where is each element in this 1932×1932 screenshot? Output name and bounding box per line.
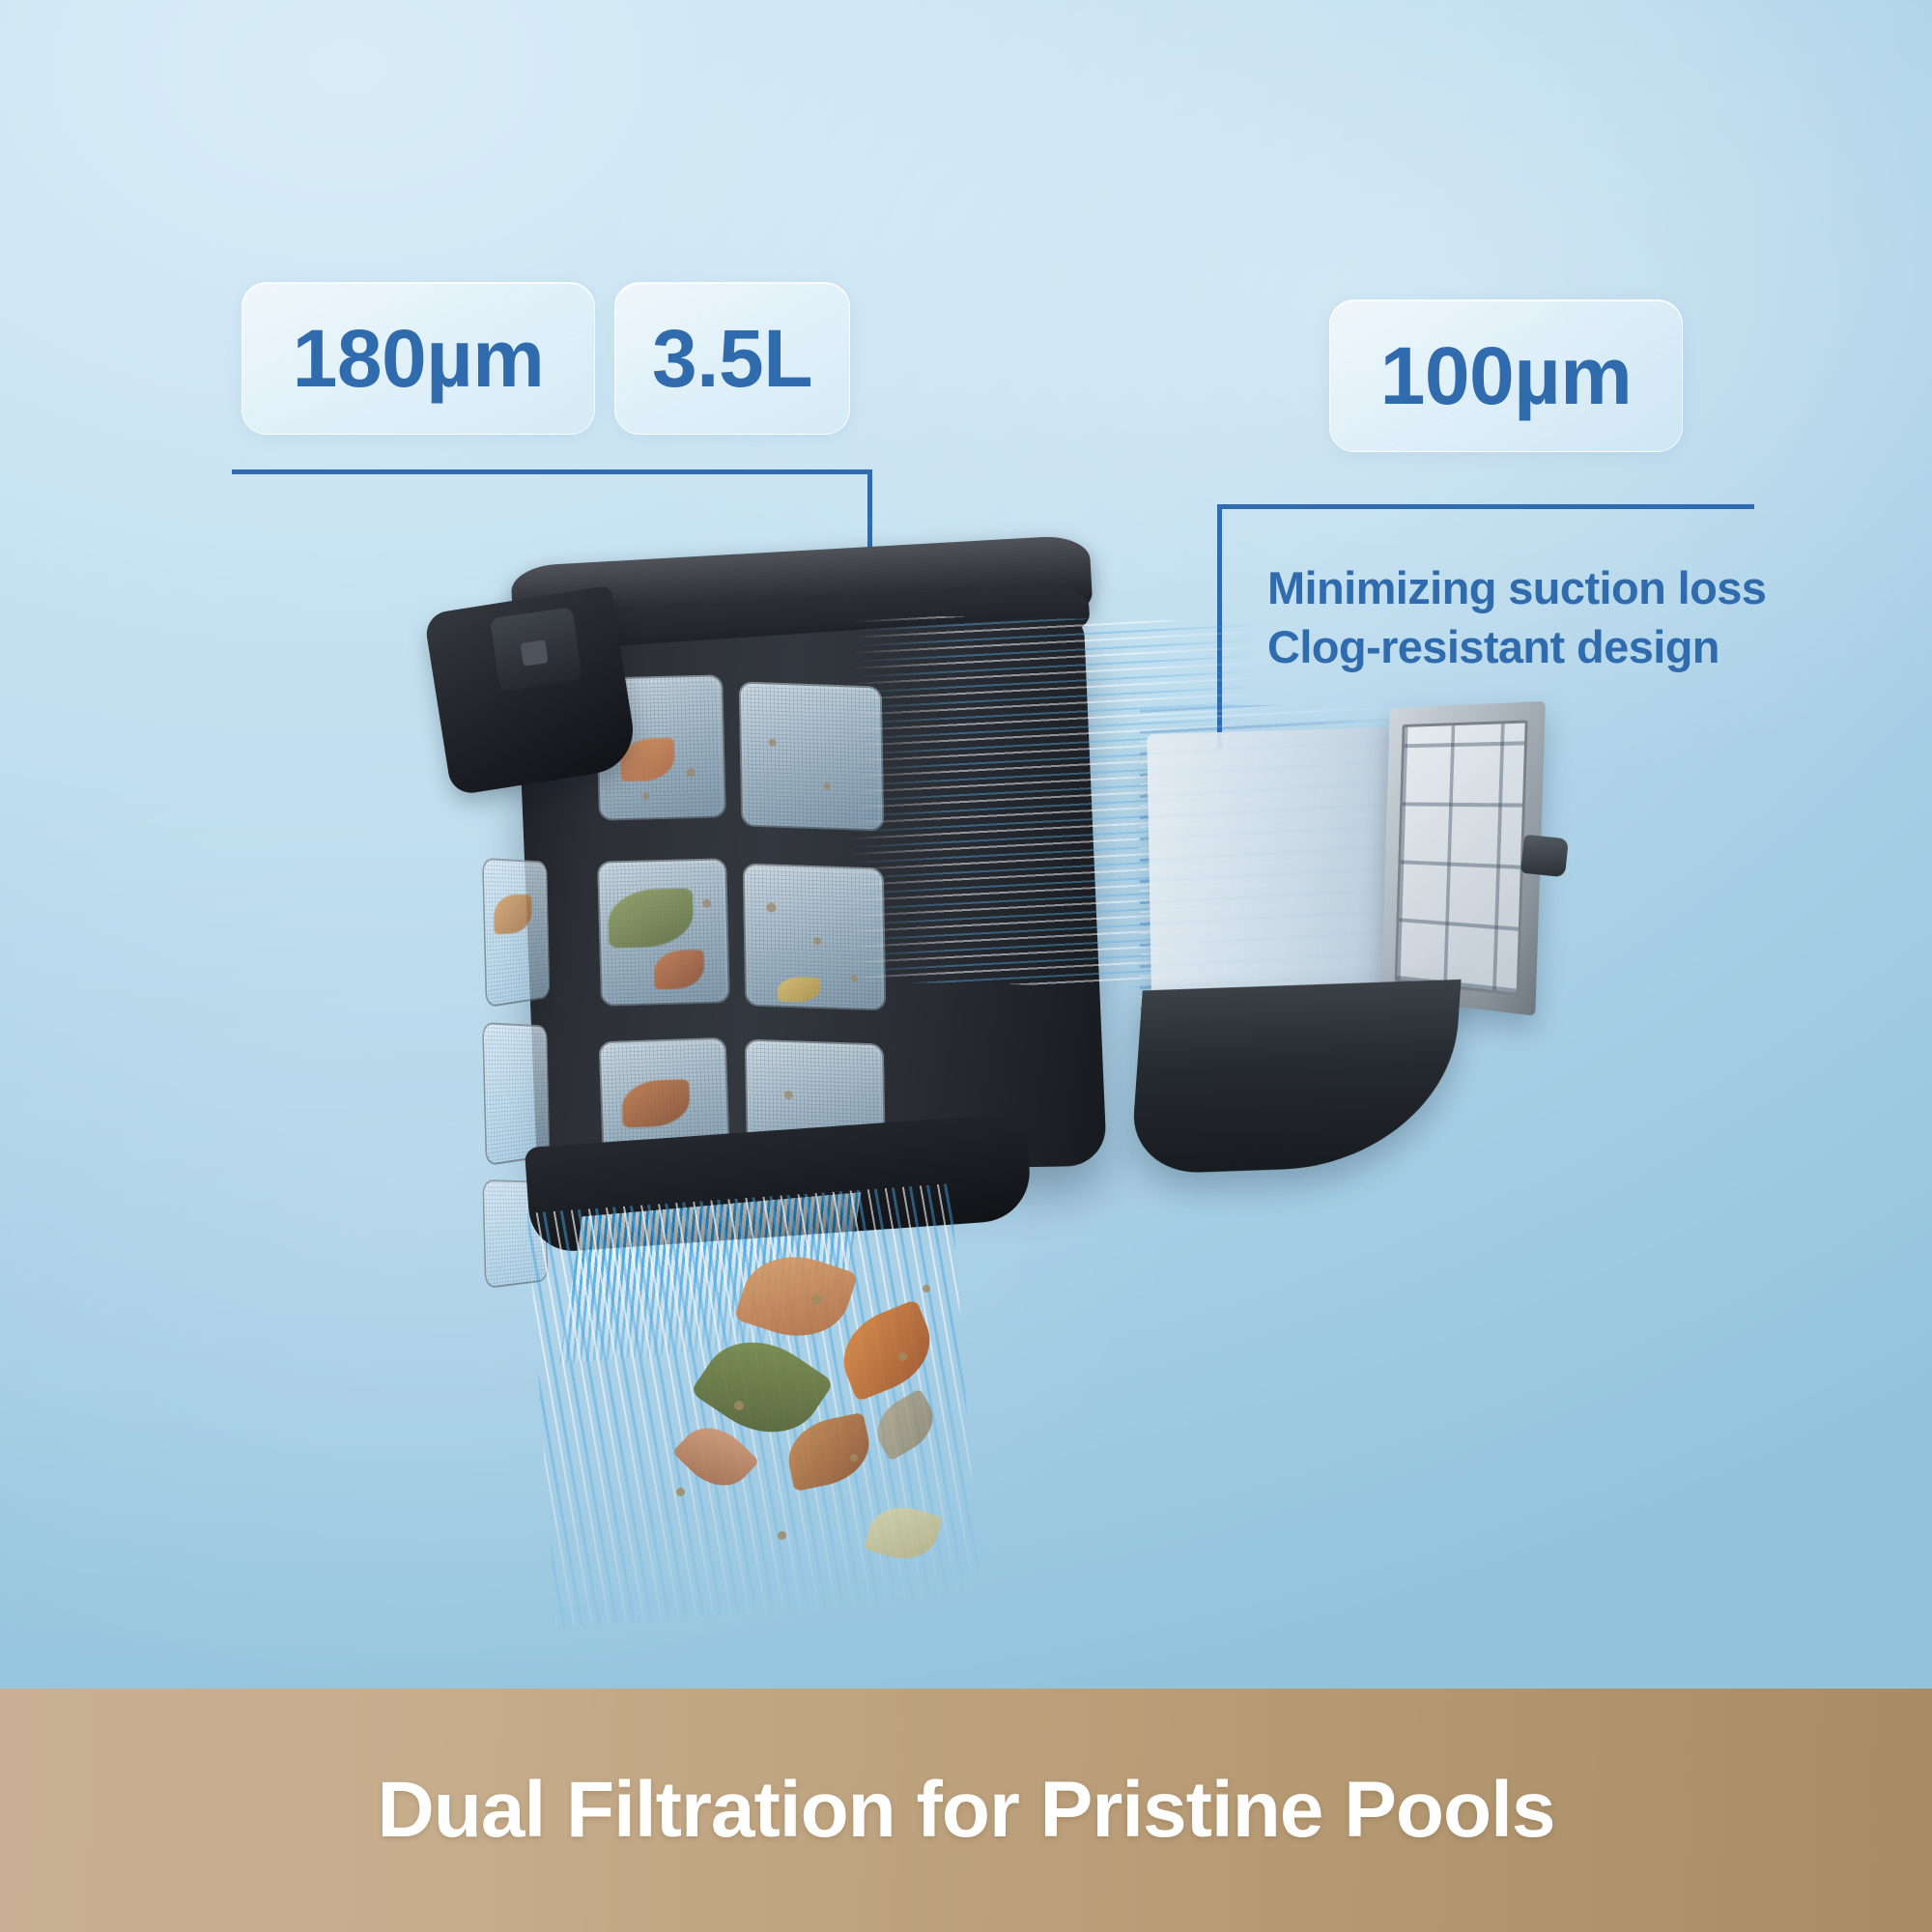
fine-filter-grid-frame bbox=[1381, 701, 1546, 1016]
caption-line-1: Minimizing suction loss bbox=[1267, 558, 1808, 617]
caption-line-2: Clog-resistant design bbox=[1267, 617, 1808, 676]
coarse-filter-mesh-badge: 180µm bbox=[241, 282, 595, 435]
basket-mesh-window bbox=[743, 863, 887, 1010]
basket-mesh-window bbox=[739, 681, 885, 831]
basket-capacity-badge: 3.5L bbox=[614, 282, 850, 435]
feature-caption: Minimizing suction loss Clog-resistant d… bbox=[1267, 558, 1808, 676]
basket-side-mesh-window bbox=[482, 858, 550, 1009]
coarse-filter-basket bbox=[454, 541, 1150, 1275]
bottom-banner: Dual Filtration for Pristine Pools bbox=[0, 1689, 1932, 1932]
basket-side-mesh-window bbox=[482, 1022, 550, 1166]
fine-filter-latch-nub bbox=[1520, 835, 1569, 878]
fine-filter-cartridge bbox=[1140, 696, 1555, 1140]
leader-line-left-horizontal bbox=[232, 469, 872, 474]
fine-filter-mesh-badge: 100µm bbox=[1329, 299, 1683, 452]
banner-title: Dual Filtration for Pristine Pools bbox=[378, 1765, 1555, 1856]
basket-handle-slot bbox=[520, 639, 548, 666]
fine-filter-grid-mesh bbox=[1395, 720, 1528, 996]
leader-line-right-horizontal bbox=[1217, 504, 1754, 509]
marketing-image-stage: 180µm 3.5L 100µm Minimizing suction loss… bbox=[0, 0, 1932, 1932]
basket-mesh-window bbox=[597, 858, 730, 1006]
